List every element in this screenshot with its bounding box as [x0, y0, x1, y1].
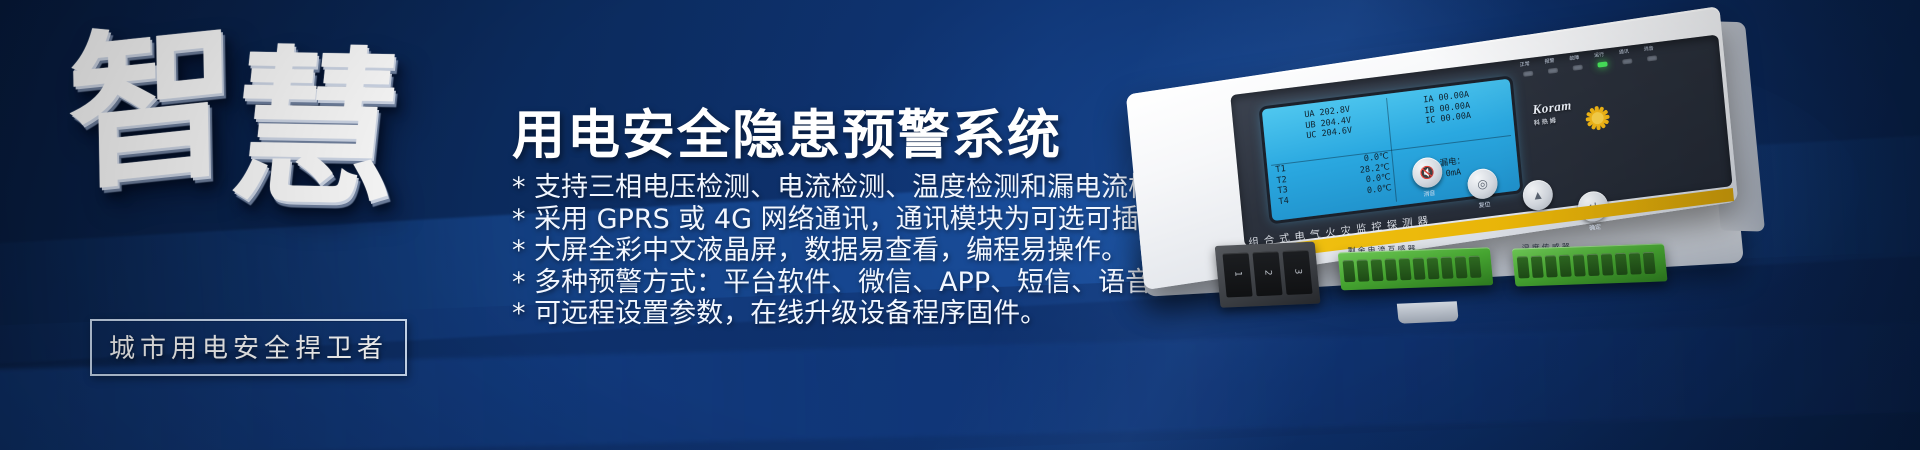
- promo-banner: 智慧 城市用电安全捍卫者 用电安全隐患预警系统 * 支持三相电压检测、电流检测、…: [0, 0, 1920, 450]
- vignette-overlay: [0, 0, 1920, 450]
